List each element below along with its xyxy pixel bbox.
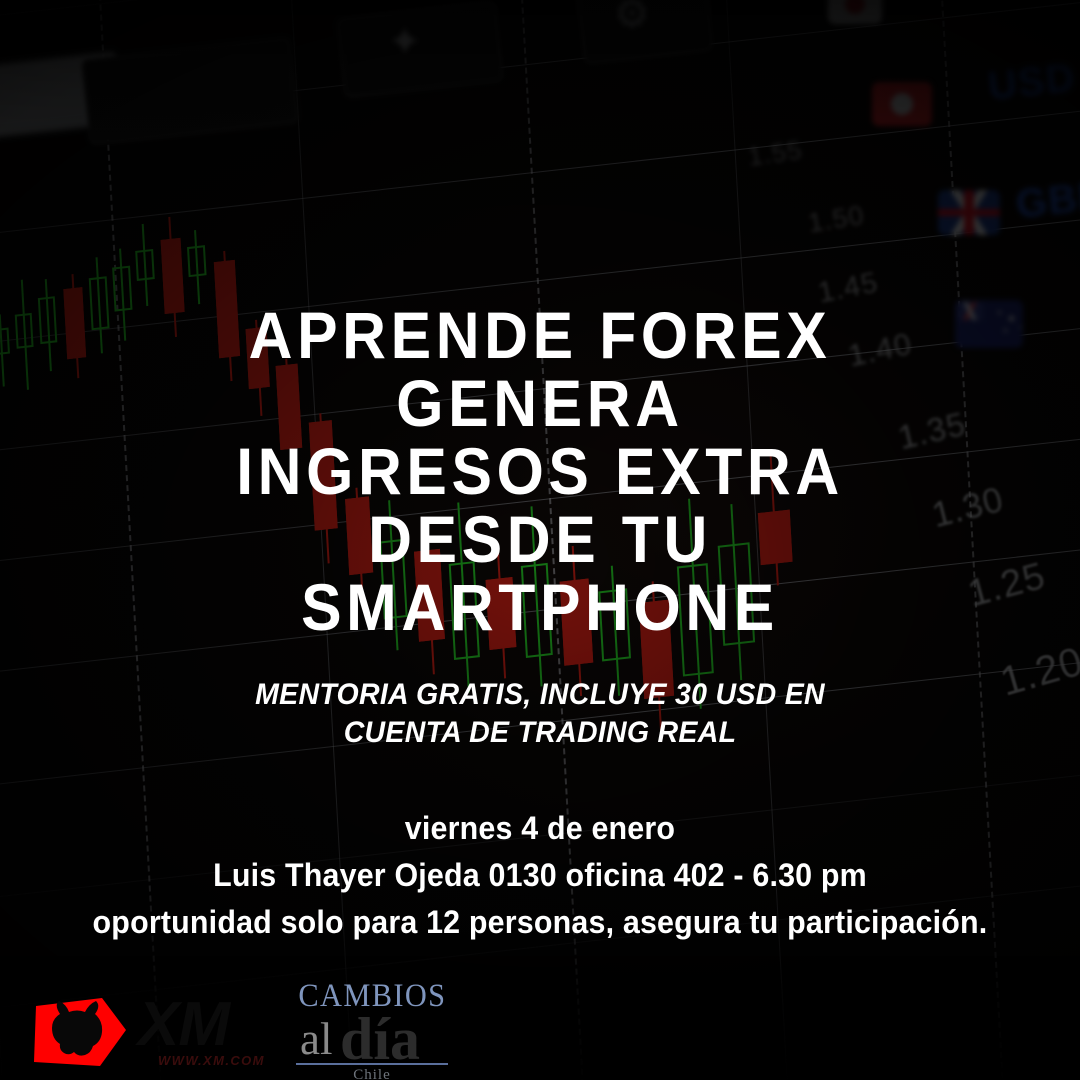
headline-line: SMARTPHONE (144, 574, 935, 642)
dia-text: día (340, 1009, 420, 1069)
headline-line: INGRESOS EXTRA (144, 438, 935, 506)
al-dia-wordmark: al día (292, 1013, 452, 1063)
xm-wordmark: XM (138, 994, 229, 1056)
al-text: al (300, 1017, 332, 1062)
xm-url-text: WWW.XM.COM (158, 1053, 265, 1068)
event-address-time: Luis Thayer Ojeda 0130 oficina 402 - 6.3… (65, 852, 1015, 899)
headline-line: DESDE TU (144, 506, 935, 574)
subtitle-line: MENTORIA GRATIS, INCLUYE 30 USD EN (236, 676, 844, 714)
subtitle: MENTORIA GRATIS, INCLUYE 30 USD EN CUENT… (236, 676, 844, 753)
subtitle-line: CUENTA DE TRADING REAL (236, 714, 844, 752)
headline-line: GENERA (144, 370, 935, 438)
page-title: APRENDE FOREX GENERA INGRESOS EXTRA DESD… (144, 302, 935, 642)
event-details: viernes 4 de enero Luis Thayer Ojeda 013… (65, 805, 1015, 946)
headline-line: APRENDE FOREX (144, 302, 935, 370)
xm-bull-mark-icon (30, 996, 130, 1070)
cambios-al-dia-logo: CAMBIOS al día Chile (292, 980, 452, 1078)
xm-logo: XM WWW.XM.COM (30, 990, 260, 1074)
event-capacity-note: oportunidad solo para 12 personas, asegu… (65, 899, 1015, 946)
event-date: viernes 4 de enero (65, 805, 1015, 852)
sponsor-logos: XM WWW.XM.COM CAMBIOS al día Chile (0, 960, 1080, 1080)
forex-promo-poster: 1.551.501.451.401.351.301.251.20 ✦ ⚙ USD… (0, 0, 1080, 1080)
poster-content: APRENDE FOREX GENERA INGRESOS EXTRA DESD… (0, 0, 1080, 1080)
